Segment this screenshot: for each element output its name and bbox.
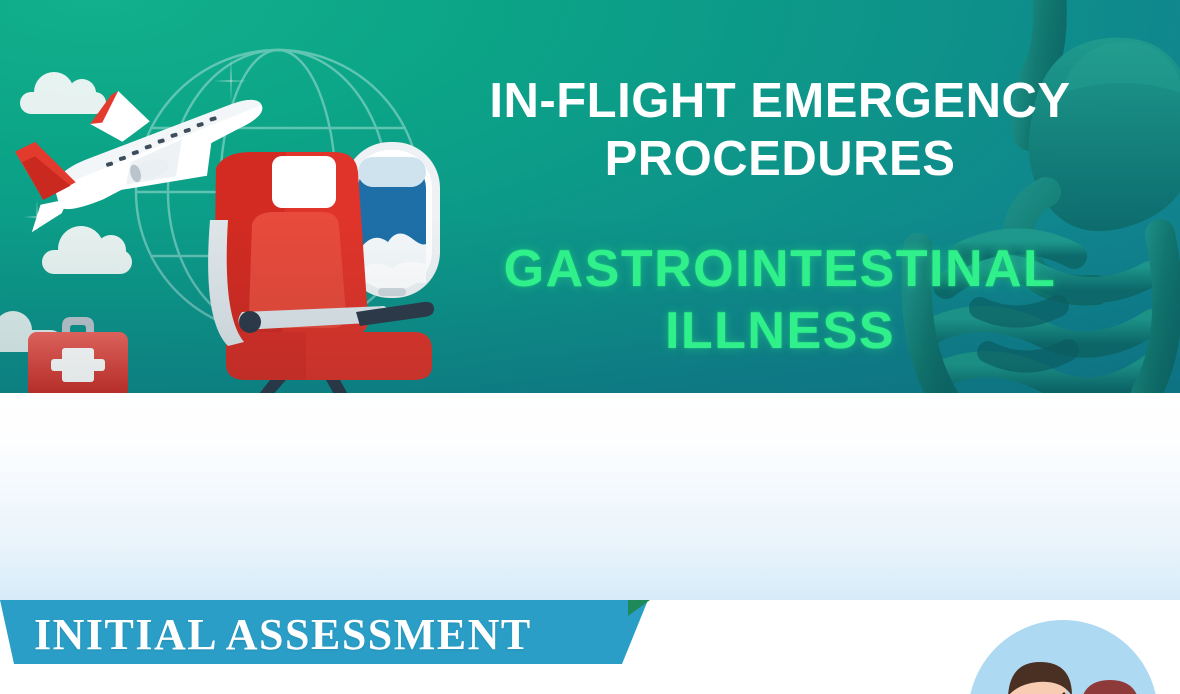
page-title: IN-FLIGHT EMERGENCY PROCEDURES	[430, 72, 1130, 188]
two-people-illustration	[968, 620, 1158, 694]
section-banner[interactable]: INITIAL ASSESSMENT	[0, 600, 700, 670]
section-banner-label: INITIAL ASSESSMENT	[34, 609, 532, 660]
hero-section: IN-FLIGHT EMERGENCY PROCEDURES GASTROINT…	[0, 0, 1180, 393]
infographic-page: IN-FLIGHT EMERGENCY PROCEDURES GASTROINT…	[0, 0, 1180, 694]
statistic-section: upto 5 % of all in-flight emergencies	[0, 393, 1180, 600]
page-subtitle: GASTROINTESTINAL ILLNESS	[430, 238, 1130, 362]
